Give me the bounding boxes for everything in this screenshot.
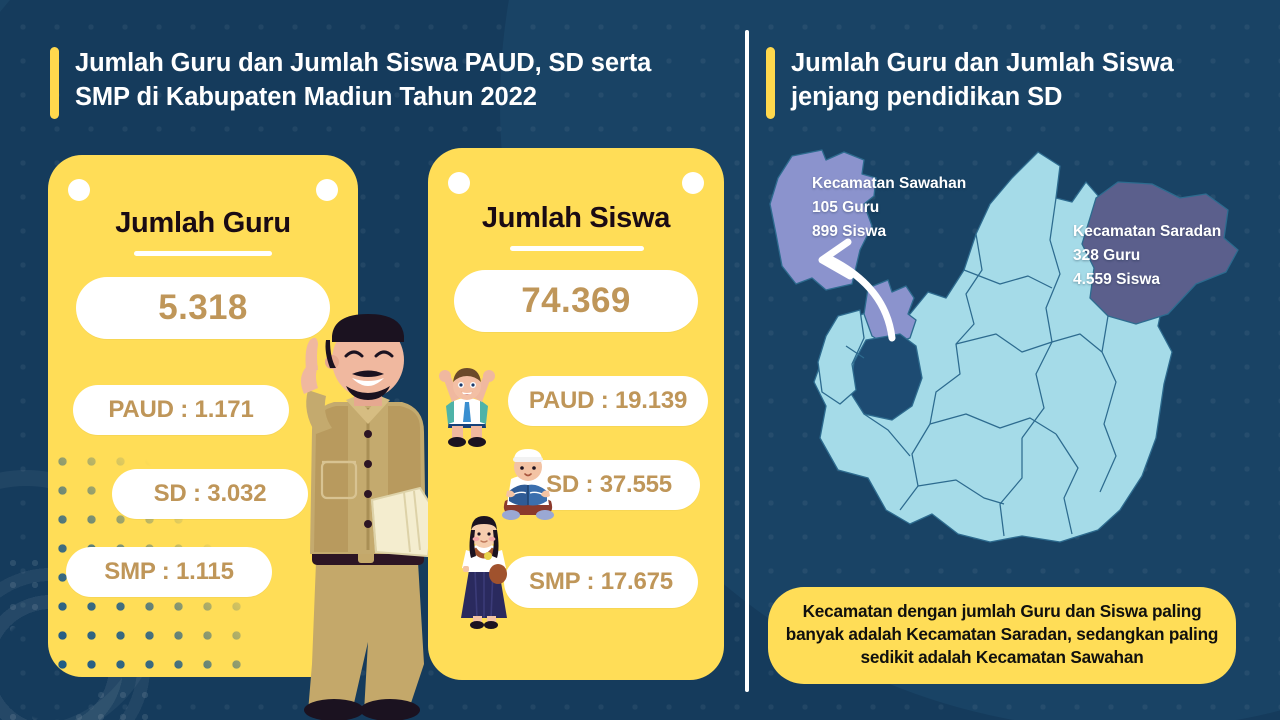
left-panel-title: Jumlah Guru dan Jumlah Siswa PAUD, SD se… xyxy=(50,47,710,119)
punch-hole-right xyxy=(316,179,338,201)
card-title: Jumlah Guru xyxy=(48,207,358,240)
stat-row-paud: PAUD : 19.139 xyxy=(508,376,708,426)
punch-hole-left xyxy=(68,179,90,201)
student-boy-cheering-illustration xyxy=(436,362,498,448)
infographic-canvas: Jumlah Guru dan Jumlah Siswa PAUD, SD se… xyxy=(0,0,1280,720)
title-underline xyxy=(510,246,644,251)
right-title-text: Jumlah Guru dan Jumlah Siswa jenjang pen… xyxy=(791,47,1174,119)
title-accent-bar xyxy=(766,47,775,119)
stat-row-smp: SMP : 17.675 xyxy=(504,556,698,608)
right-panel-title: Jumlah Guru dan Jumlah Siswa jenjang pen… xyxy=(766,47,1236,119)
map-label-sawahan: Kecamatan Sawahan 105 Guru 899 Siswa xyxy=(812,172,966,245)
stat-row-smp: SMP : 1.115 xyxy=(66,547,272,597)
panel-divider xyxy=(745,30,749,692)
title-accent-bar xyxy=(50,47,59,119)
punch-hole-right xyxy=(682,172,704,194)
map-caption-box: Kecamatan dengan jumlah Guru dan Siswa p… xyxy=(768,587,1236,684)
student-girl-illustration xyxy=(455,512,513,630)
title-underline xyxy=(134,251,272,256)
total-value-pill: 74.369 xyxy=(454,270,698,332)
card-title: Jumlah Siswa xyxy=(428,202,724,235)
map-label-saradan: Kecamatan Saradan 328 Guru 4.559 Siswa xyxy=(1073,220,1221,293)
left-title-text: Jumlah Guru dan Jumlah Siswa PAUD, SD se… xyxy=(75,47,651,119)
stat-row-paud: PAUD : 1.171 xyxy=(73,385,289,435)
punch-hole-left xyxy=(448,172,470,194)
